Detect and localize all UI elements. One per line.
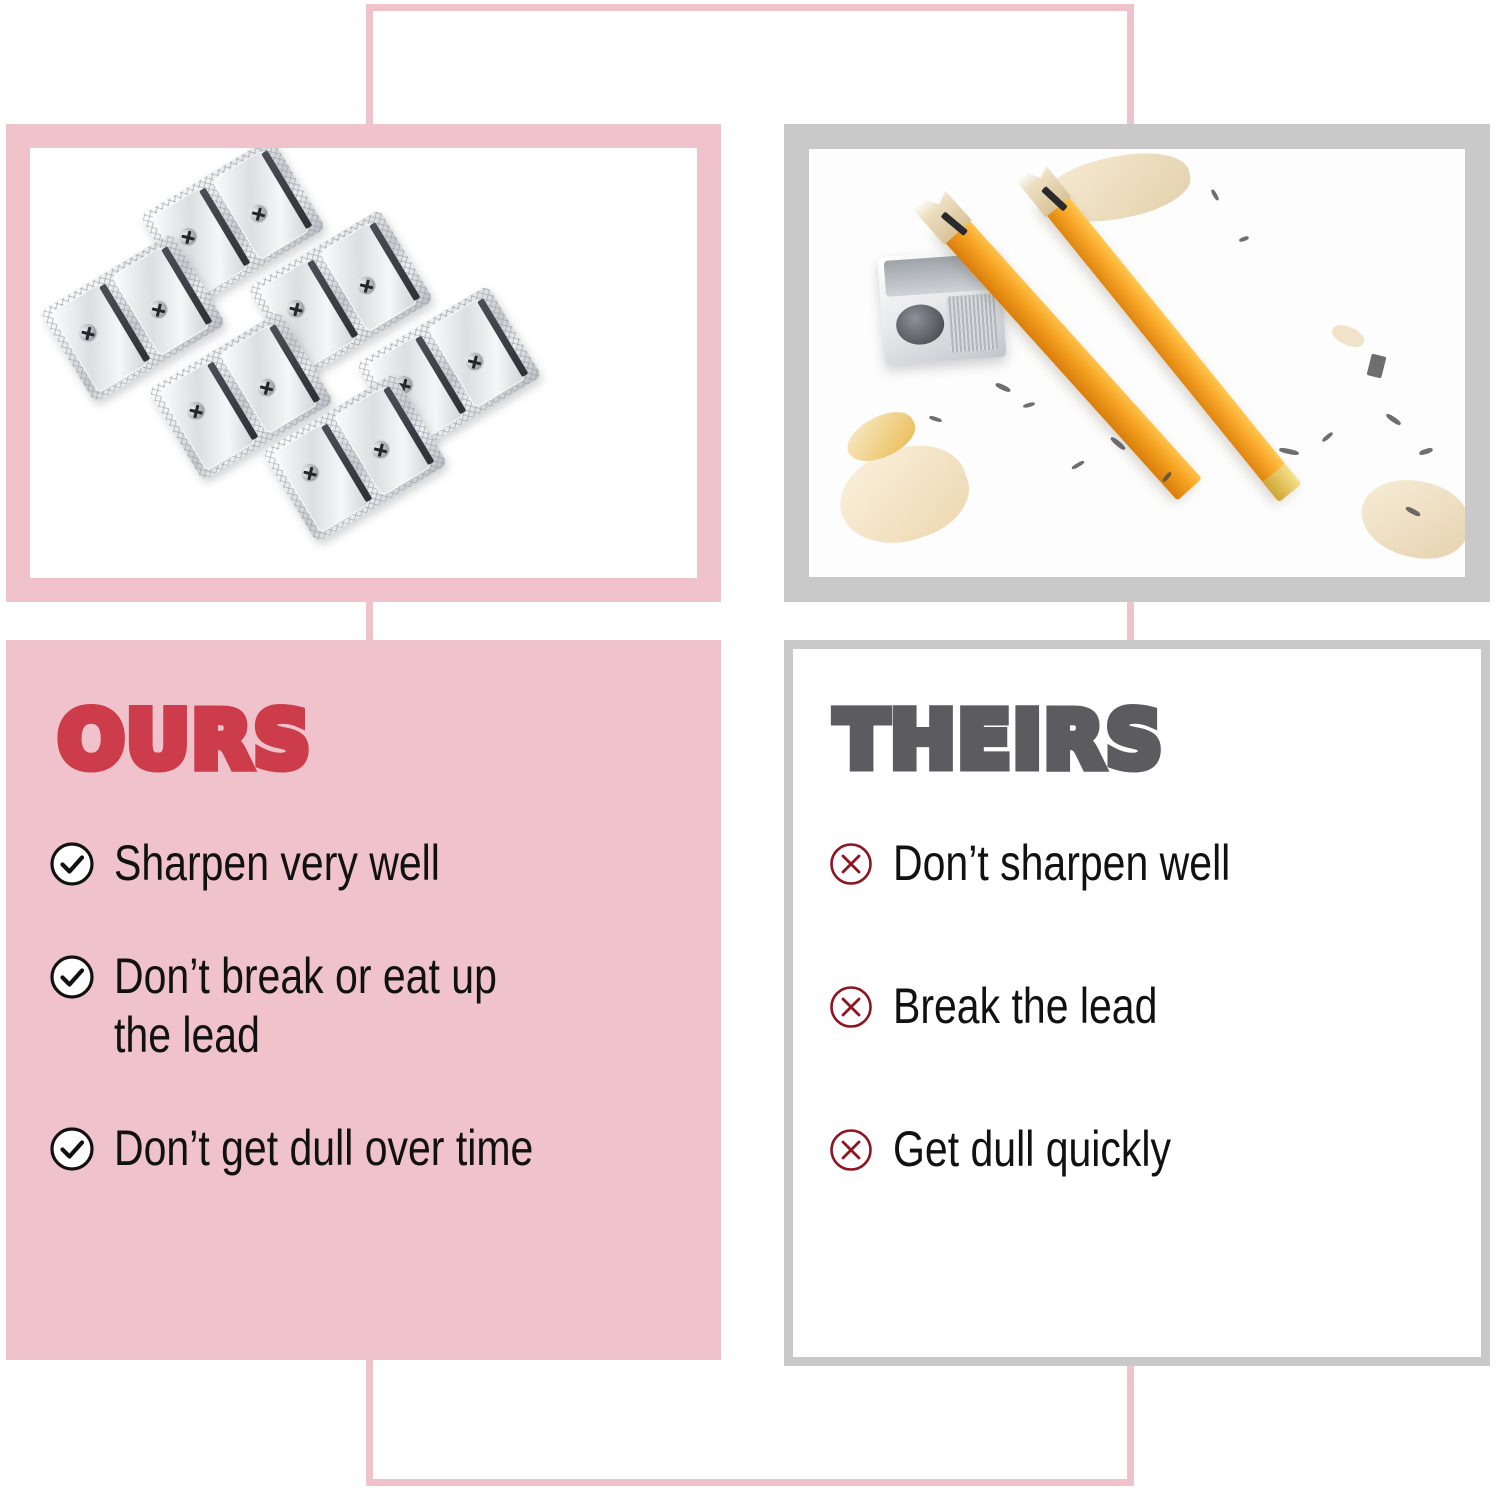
theirs-heading: THEIRS [835,702,1445,780]
theirs-photo-panel [784,124,1490,602]
theirs-product-photo [809,149,1465,577]
pencil-shaving [1329,321,1367,350]
ours-product-photo [30,148,697,578]
ours-heading: OURS [58,702,677,780]
list-item-label: Don’t sharpen well [893,834,1230,893]
list-item: Get dull quickly [829,1120,1445,1179]
list-item: Break the lead [829,977,1445,1036]
comparison-infographic: OURS Sharpen very well Do [0,0,1498,1498]
theirs-feature-list: Don’t sharpen well Break the lead [829,834,1445,1179]
pencil-shaving [1355,472,1465,566]
x-circle-icon [829,985,873,1029]
list-item: Don’t break or eat up the lead [50,947,677,1065]
list-item: Don’t get dull over time [50,1119,677,1178]
pencil-ferrule [1263,464,1302,502]
list-item-label: Don’t get dull over time [114,1119,533,1178]
ours-feature-list: Sharpen very well Don’t break or eat up … [50,834,677,1178]
broken-pencils-scene [809,149,1465,577]
list-item-label: Break the lead [893,977,1157,1036]
x-circle-icon [829,842,873,886]
x-circle-icon [829,1128,873,1172]
ours-text-panel: OURS Sharpen very well Do [6,640,721,1360]
ours-photo-panel [6,124,721,602]
list-item-label: Don’t break or eat up the lead [114,947,497,1065]
list-item-label: Get dull quickly [893,1120,1171,1179]
check-circle-icon [50,955,94,999]
theirs-text-panel: THEIRS Don’t sharpen well [784,640,1490,1366]
list-item-label: Sharpen very well [114,834,440,893]
list-item: Sharpen very well [50,834,677,893]
sharpener-group-image [30,148,697,578]
check-circle-icon [50,842,94,886]
list-item: Don’t sharpen well [829,834,1445,893]
check-circle-icon [50,1127,94,1171]
